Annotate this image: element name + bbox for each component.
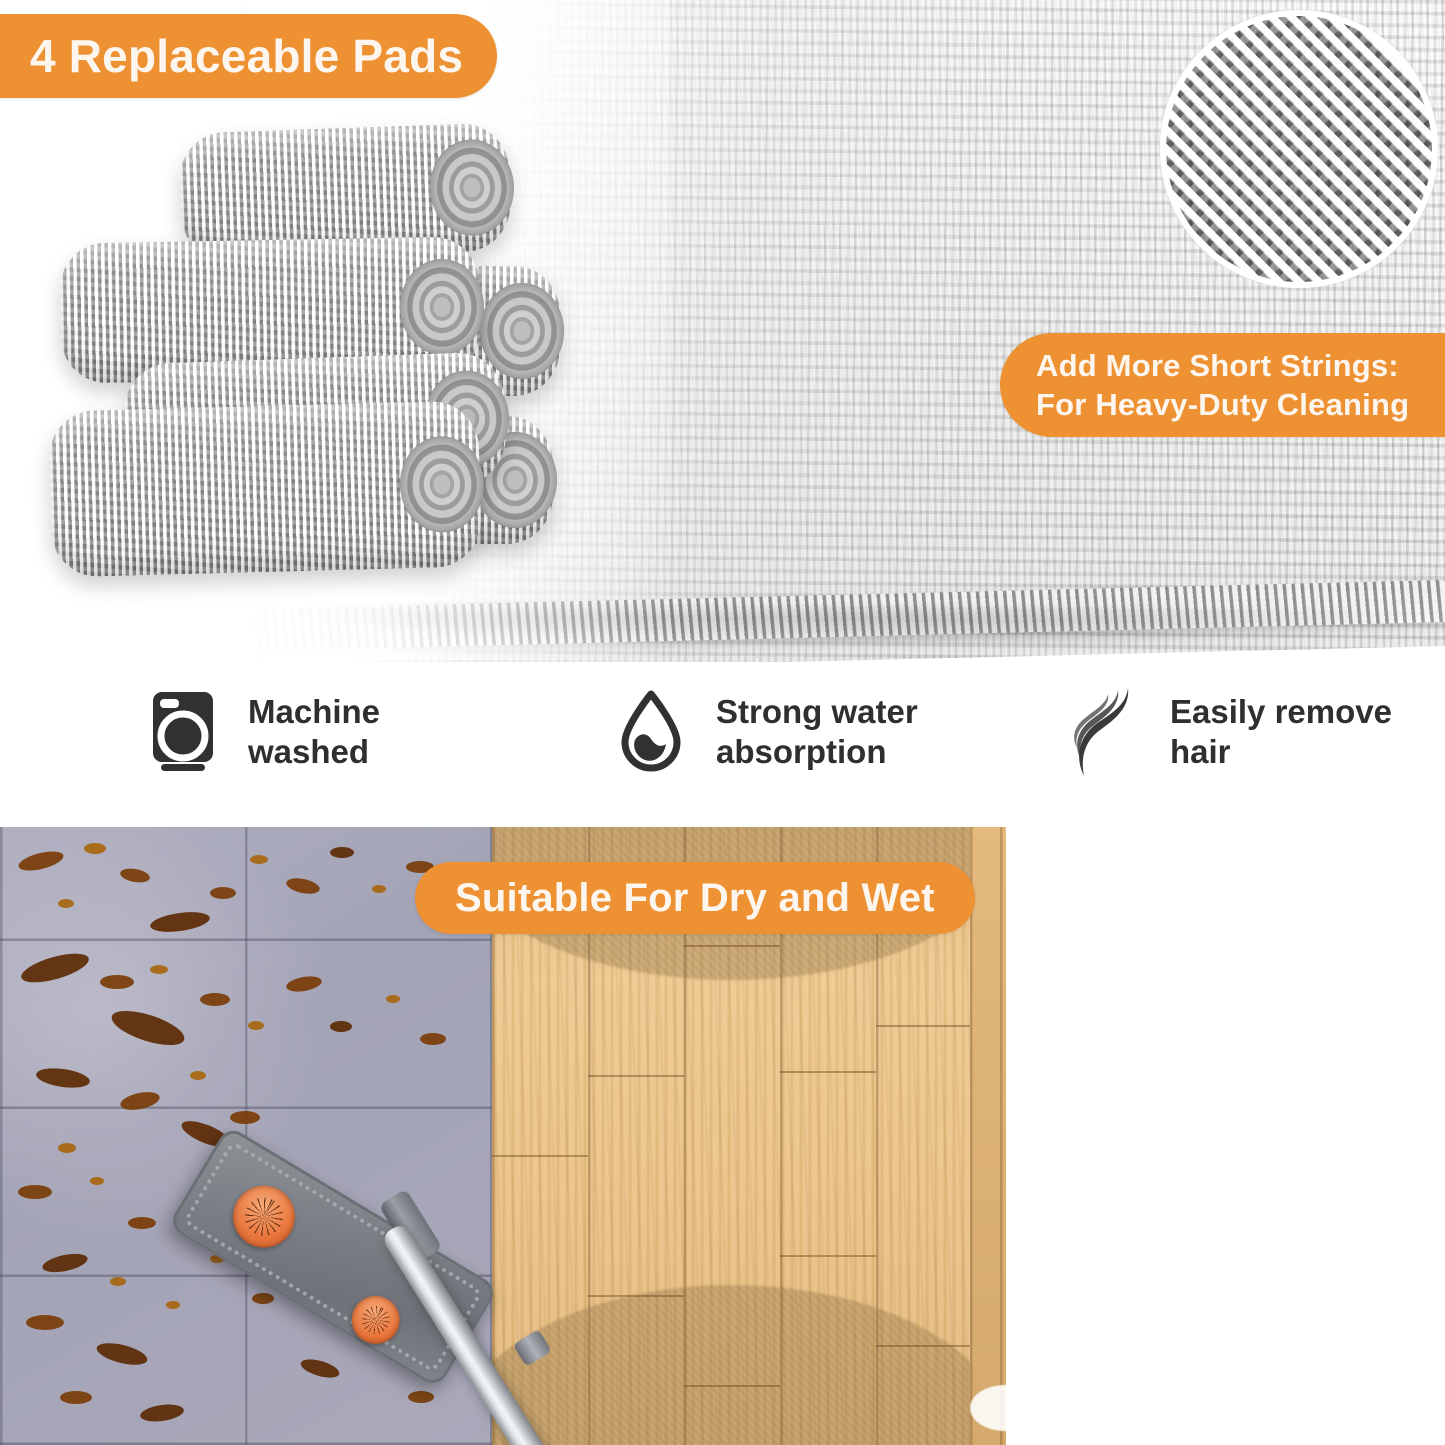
roll-spiral-end	[428, 138, 515, 237]
foam-blob	[970, 1385, 1040, 1431]
badge-short-strings-line2: For Heavy-Duty Cleaning	[1036, 385, 1409, 424]
feature-water-absorption-label: Strong water absorption	[716, 692, 918, 773]
pad-roll-bottom	[48, 400, 482, 577]
badge-replaceable-pads: 4 Replaceable Pads	[0, 14, 497, 98]
section-divider	[0, 818, 1445, 827]
badge-suitable-dry-wet: Suitable For Dry and Wet	[415, 862, 975, 934]
foam-blob	[1160, 965, 1290, 1065]
badge-short-strings: Add More Short Strings: For Heavy-Duty C…	[1000, 333, 1445, 437]
mop-release-button-primary[interactable]	[221, 1174, 306, 1259]
badge-replaceable-pads-label: 4 Replaceable Pads	[30, 33, 463, 79]
washing-machine-icon	[140, 686, 226, 778]
roll-spiral-end	[399, 258, 485, 355]
feature-machine-washed: Machine washed	[140, 686, 380, 778]
wood-edge-strip	[970, 825, 1006, 1445]
hair-strands-icon	[1062, 686, 1148, 778]
dust-region-bottom	[492, 1285, 970, 1445]
flat-mop	[228, 1125, 558, 1445]
feature-remove-hair: Easily remove hair	[1062, 686, 1392, 778]
roll-spiral-end	[399, 435, 485, 533]
fabric-texture-zoom-inset	[1160, 10, 1438, 288]
badge-short-strings-line1: Add More Short Strings:	[1036, 346, 1399, 385]
water-drop-icon	[608, 686, 694, 778]
mop-pole-collar	[513, 1329, 552, 1367]
panel-herringbone-floor	[970, 825, 1445, 1445]
feature-remove-hair-label: Easily remove hair	[1170, 692, 1392, 773]
badge-suitable-label: Suitable For Dry and Wet	[455, 878, 935, 918]
hero-section: 4 Replaceable Pads Add More Short String…	[0, 0, 1445, 662]
foam-blob	[1266, 829, 1386, 919]
roll-spiral-end	[480, 283, 564, 379]
foam-blob	[1300, 945, 1410, 1041]
feature-water-absorption: Strong water absorption	[608, 686, 918, 778]
mop-release-button-secondary[interactable]	[343, 1287, 409, 1353]
feature-machine-washed-label: Machine washed	[248, 692, 380, 773]
product-feature-image: 4 Replaceable Pads Add More Short String…	[0, 0, 1445, 1445]
feature-strip: Machine washed Strong water absorption E…	[0, 662, 1445, 825]
rolled-pads-stack	[40, 128, 620, 662]
